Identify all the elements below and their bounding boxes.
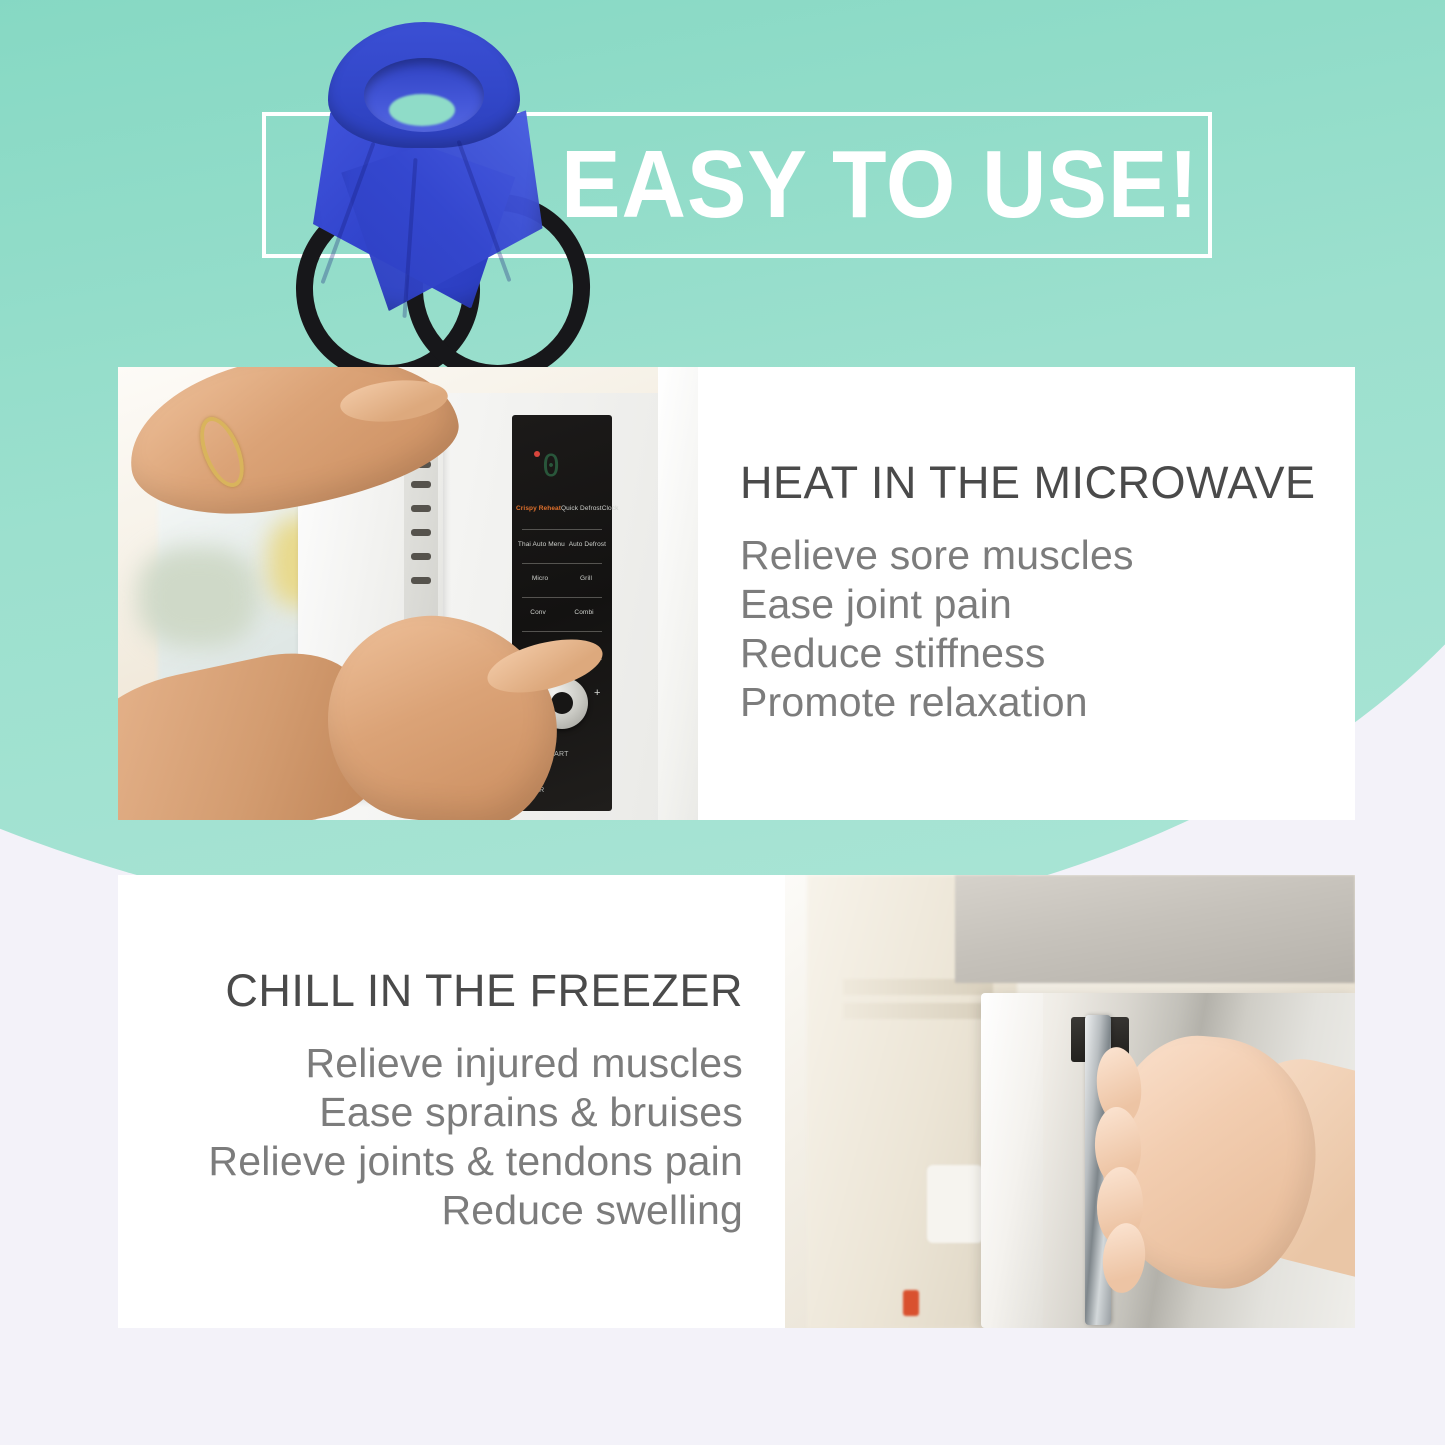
- button-thai-auto-menu[interactable]: Thai Auto Menu: [518, 541, 565, 548]
- button-auto-defrost[interactable]: Auto Defrost: [569, 541, 606, 548]
- page-title: EASY TO USE!: [582, 128, 1177, 242]
- product-image-neck-wrap: [286, 8, 558, 360]
- panel-divider: [522, 631, 602, 632]
- background-blur-shape: [138, 547, 258, 647]
- benefit-item: Relieve sore muscles: [740, 531, 1134, 580]
- vent-slot: [411, 529, 431, 536]
- card-heat-in-microwave: 0 Crispy Reheat Quick Defrost Clock Thai…: [118, 367, 1355, 820]
- vent-slot: [411, 505, 431, 512]
- shelf: [843, 1003, 993, 1019]
- freezer-top-unit: [955, 875, 1355, 983]
- button-grill[interactable]: Grill: [580, 575, 592, 582]
- heading-heat-in-microwave: HEAT IN THE MICROWAVE: [740, 460, 1316, 505]
- microwave-side-panel: [658, 367, 698, 820]
- indicator-led: [534, 451, 540, 457]
- product-collar-opening: [389, 94, 455, 126]
- heading-chill-in-freezer: CHILL IN THE FREEZER: [225, 968, 743, 1013]
- knob-plus-label[interactable]: +: [594, 687, 600, 699]
- refrigerator-door-edge: [981, 993, 1043, 1328]
- microwave-text-pane: HEAT IN THE MICROWAVE Relieve sore muscl…: [698, 367, 1355, 820]
- benefit-item: Promote relaxation: [740, 678, 1134, 727]
- benefit-item: Reduce stiffness: [740, 629, 1134, 678]
- benefit-item: Ease joint pain: [740, 580, 1134, 629]
- button-crispy-reheat[interactable]: Crispy Reheat: [516, 505, 561, 512]
- vent-slot: [411, 553, 431, 560]
- benefit-item: Relieve injured muscles: [208, 1039, 743, 1088]
- button-combi[interactable]: Combi: [574, 609, 593, 616]
- button-clock[interactable]: Clock: [602, 505, 619, 512]
- microwave-photo: 0 Crispy Reheat Quick Defrost Clock Thai…: [118, 367, 698, 820]
- benefit-item: Relieve joints & tendons pain: [208, 1137, 743, 1186]
- button-conv[interactable]: Conv: [530, 609, 546, 616]
- infographic-canvas: EASY TO USE!: [0, 0, 1445, 1445]
- button-micro[interactable]: Micro: [532, 575, 548, 582]
- benefit-item: Reduce swelling: [208, 1186, 743, 1235]
- red-object: [903, 1290, 919, 1316]
- benefit-list-freezer: Relieve injured muscles Ease sprains & b…: [208, 1039, 743, 1234]
- button-quick-defrost[interactable]: Quick Defrost: [561, 505, 602, 512]
- panel-divider: [522, 563, 602, 564]
- microwave-display: 0: [542, 449, 586, 483]
- vent-slot: [411, 577, 431, 584]
- panel-divider: [522, 597, 602, 598]
- vent-slot: [411, 481, 431, 488]
- panel-divider: [522, 529, 602, 530]
- benefit-list-microwave: Relieve sore muscles Ease joint pain Red…: [740, 531, 1134, 726]
- freezer-photo: [785, 875, 1355, 1328]
- benefit-item: Ease sprains & bruises: [208, 1088, 743, 1137]
- freezer-text-pane: CHILL IN THE FREEZER Relieve injured mus…: [118, 875, 785, 1328]
- card-chill-in-freezer: CHILL IN THE FREEZER Relieve injured mus…: [118, 875, 1355, 1328]
- white-container: [927, 1165, 983, 1243]
